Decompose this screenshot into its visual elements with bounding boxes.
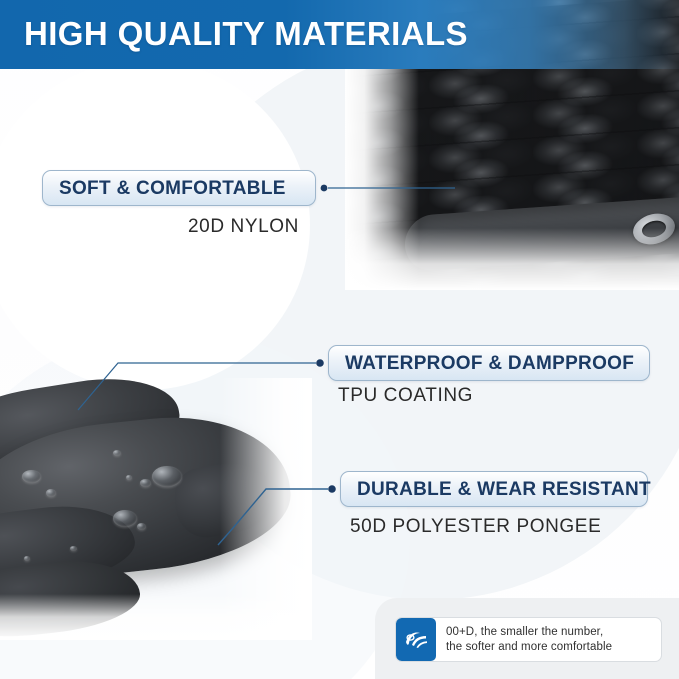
water-droplet	[70, 546, 77, 551]
callout-waterproof-dampproof: WATERPROOF & DAMPPROOF	[328, 345, 650, 381]
callout-subtext-durable: 50D POLYESTER PONGEE	[350, 516, 601, 538]
callout-label: WATERPROOF & DAMPPROOF	[345, 354, 634, 373]
callout-label: SOFT & COMFORTABLE	[59, 179, 286, 198]
water-droplet	[152, 466, 182, 487]
water-droplet	[137, 523, 146, 530]
callout-durable-wear-resistant: DURABLE & WEAR RESISTANT	[340, 471, 648, 507]
water-droplet	[22, 470, 41, 483]
callout-subtext-waterproof: TPU COATING	[338, 385, 473, 407]
water-droplet	[24, 556, 30, 561]
water-droplet	[126, 475, 132, 480]
water-droplet	[113, 510, 137, 527]
water-droplet	[46, 489, 56, 497]
pad-bottom-fade-bottom	[0, 594, 312, 640]
page-title: HIGH QUALITY MATERIALS	[24, 11, 468, 57]
footer-note-text: 00+D, the smaller the number, the softer…	[436, 625, 612, 655]
footer-note-line1: 00+D, the smaller the number,	[446, 625, 612, 640]
callout-label: DURABLE & WEAR RESISTANT	[357, 480, 651, 499]
footer-note-line2: the softer and more comfortable	[446, 640, 612, 655]
callout-soft-comfortable: SOFT & COMFORTABLE	[42, 170, 316, 206]
water-droplet	[113, 450, 121, 456]
footer-note-box: 00+D, the smaller the number, the softer…	[395, 617, 662, 662]
callout-subtext-soft: 20D NYLON	[188, 216, 299, 238]
infographic-page: HIGH QUALITY MATERIALS SOFT & COMFORTABL…	[0, 0, 679, 679]
water-droplet	[140, 479, 151, 487]
pad-fade-bottom	[345, 228, 679, 290]
fabric-swatch-icon	[396, 618, 436, 661]
product-image-sleeping-pad-bottom	[0, 378, 312, 640]
